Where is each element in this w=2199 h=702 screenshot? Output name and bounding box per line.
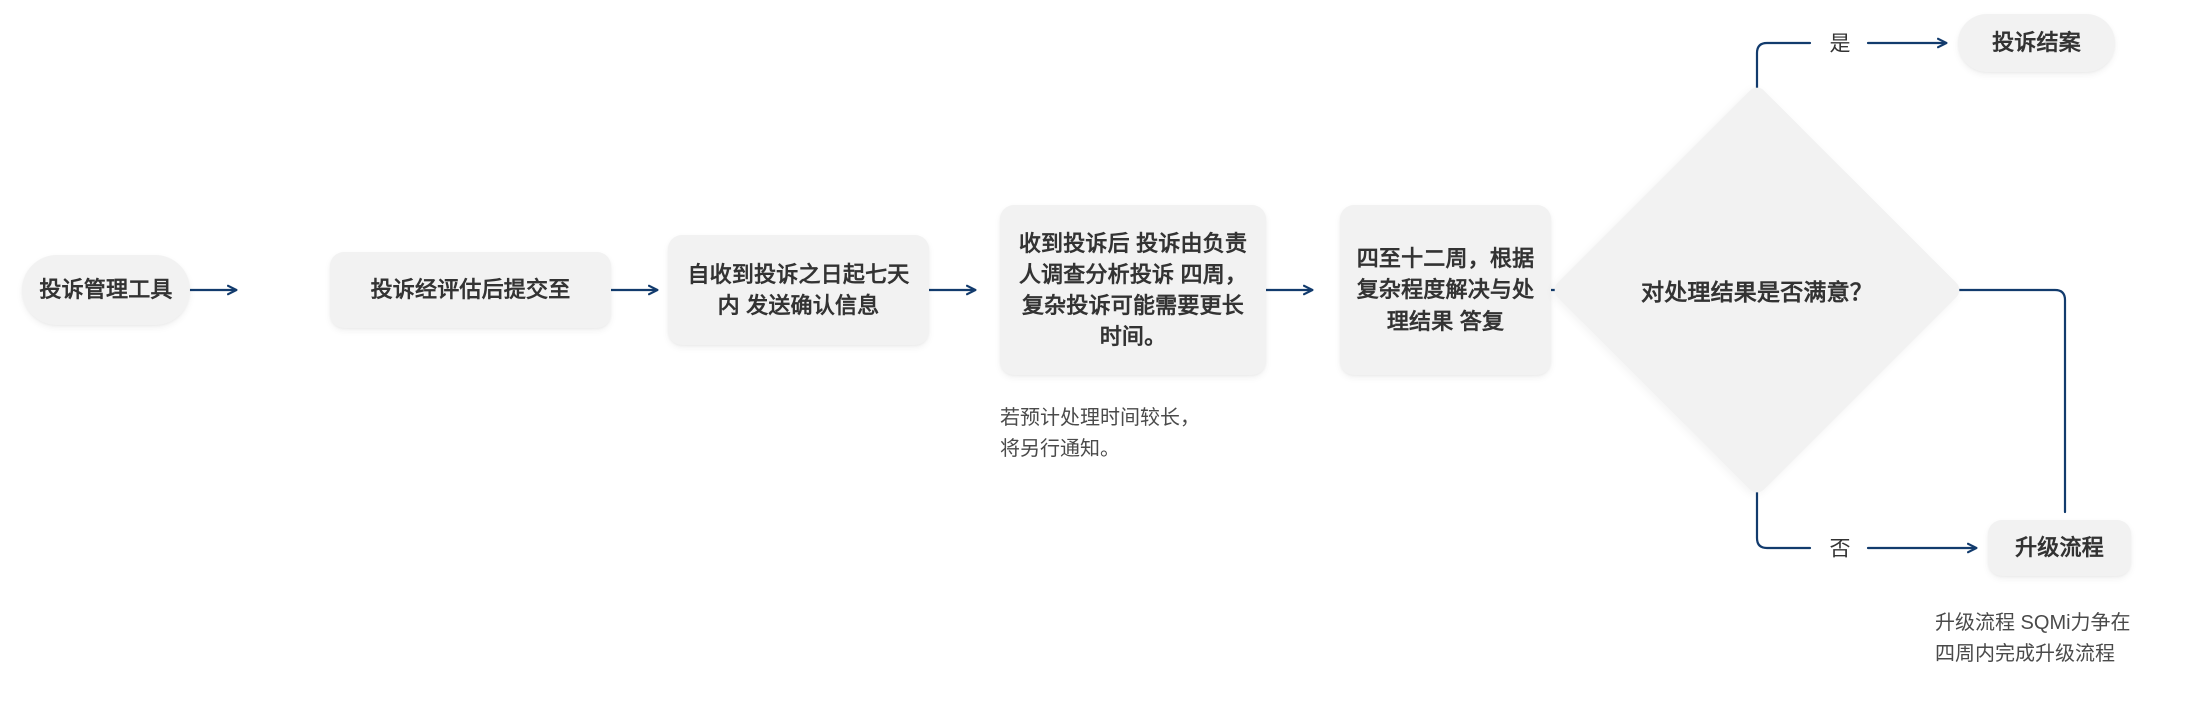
node-send-confirmation-within-seven-days[interactable]: 自收到投诉之日起七天内 发送确认信息 bbox=[668, 235, 929, 345]
node-decision-satisfied[interactable]: 对处理结果是否满意？ bbox=[1611, 144, 1903, 436]
node-escalation-process[interactable]: 升级流程 bbox=[1988, 520, 2131, 576]
caption-under-investigate: 若预计处理时间较长， 将另行通知。 bbox=[1000, 403, 1200, 465]
edge-no-feedback bbox=[1936, 290, 2065, 512]
node-submit-after-assessment[interactable]: 投诉经评估后提交至 bbox=[330, 252, 611, 328]
caption-under-escalation: 升级流程 SQMi力争在 四周内完成升级流程 bbox=[1935, 608, 2131, 670]
node-label: 对处理结果是否满意？ bbox=[1641, 273, 1873, 307]
edge-label-yes: 是 bbox=[1823, 34, 1858, 55]
node-label: 投诉管理工具 bbox=[39, 274, 172, 305]
node-label: 自收到投诉之日起七天内 发送确认信息 bbox=[684, 259, 913, 321]
node-label: 收到投诉后 投诉由负责人调查分析投诉 四周，复杂投诉可能需要更长时间。 bbox=[1017, 228, 1249, 353]
flowchart-canvas: 投诉管理工具 投诉经评估后提交至 自收到投诉之日起七天内 发送确认信息 收到投诉… bbox=[0, 0, 2199, 702]
node-label: 投诉结案 bbox=[1992, 27, 2081, 58]
node-label: 四至十二周，根据复杂程度解决与处理结果 答复 bbox=[1356, 243, 1535, 337]
node-investigate-and-analyze[interactable]: 收到投诉后 投诉由负责人调查分析投诉 四周，复杂投诉可能需要更长时间。 bbox=[1000, 205, 1266, 375]
node-label: 投诉经评估后提交至 bbox=[371, 274, 571, 305]
node-label: 升级流程 bbox=[2015, 532, 2104, 563]
edge-label-no: 否 bbox=[1823, 539, 1858, 560]
node-resolve-and-reply[interactable]: 四至十二周，根据复杂程度解决与处理结果 答复 bbox=[1340, 205, 1551, 375]
node-complaint-management-tool[interactable]: 投诉管理工具 bbox=[22, 255, 190, 325]
node-complaint-closed[interactable]: 投诉结案 bbox=[1958, 14, 2115, 72]
